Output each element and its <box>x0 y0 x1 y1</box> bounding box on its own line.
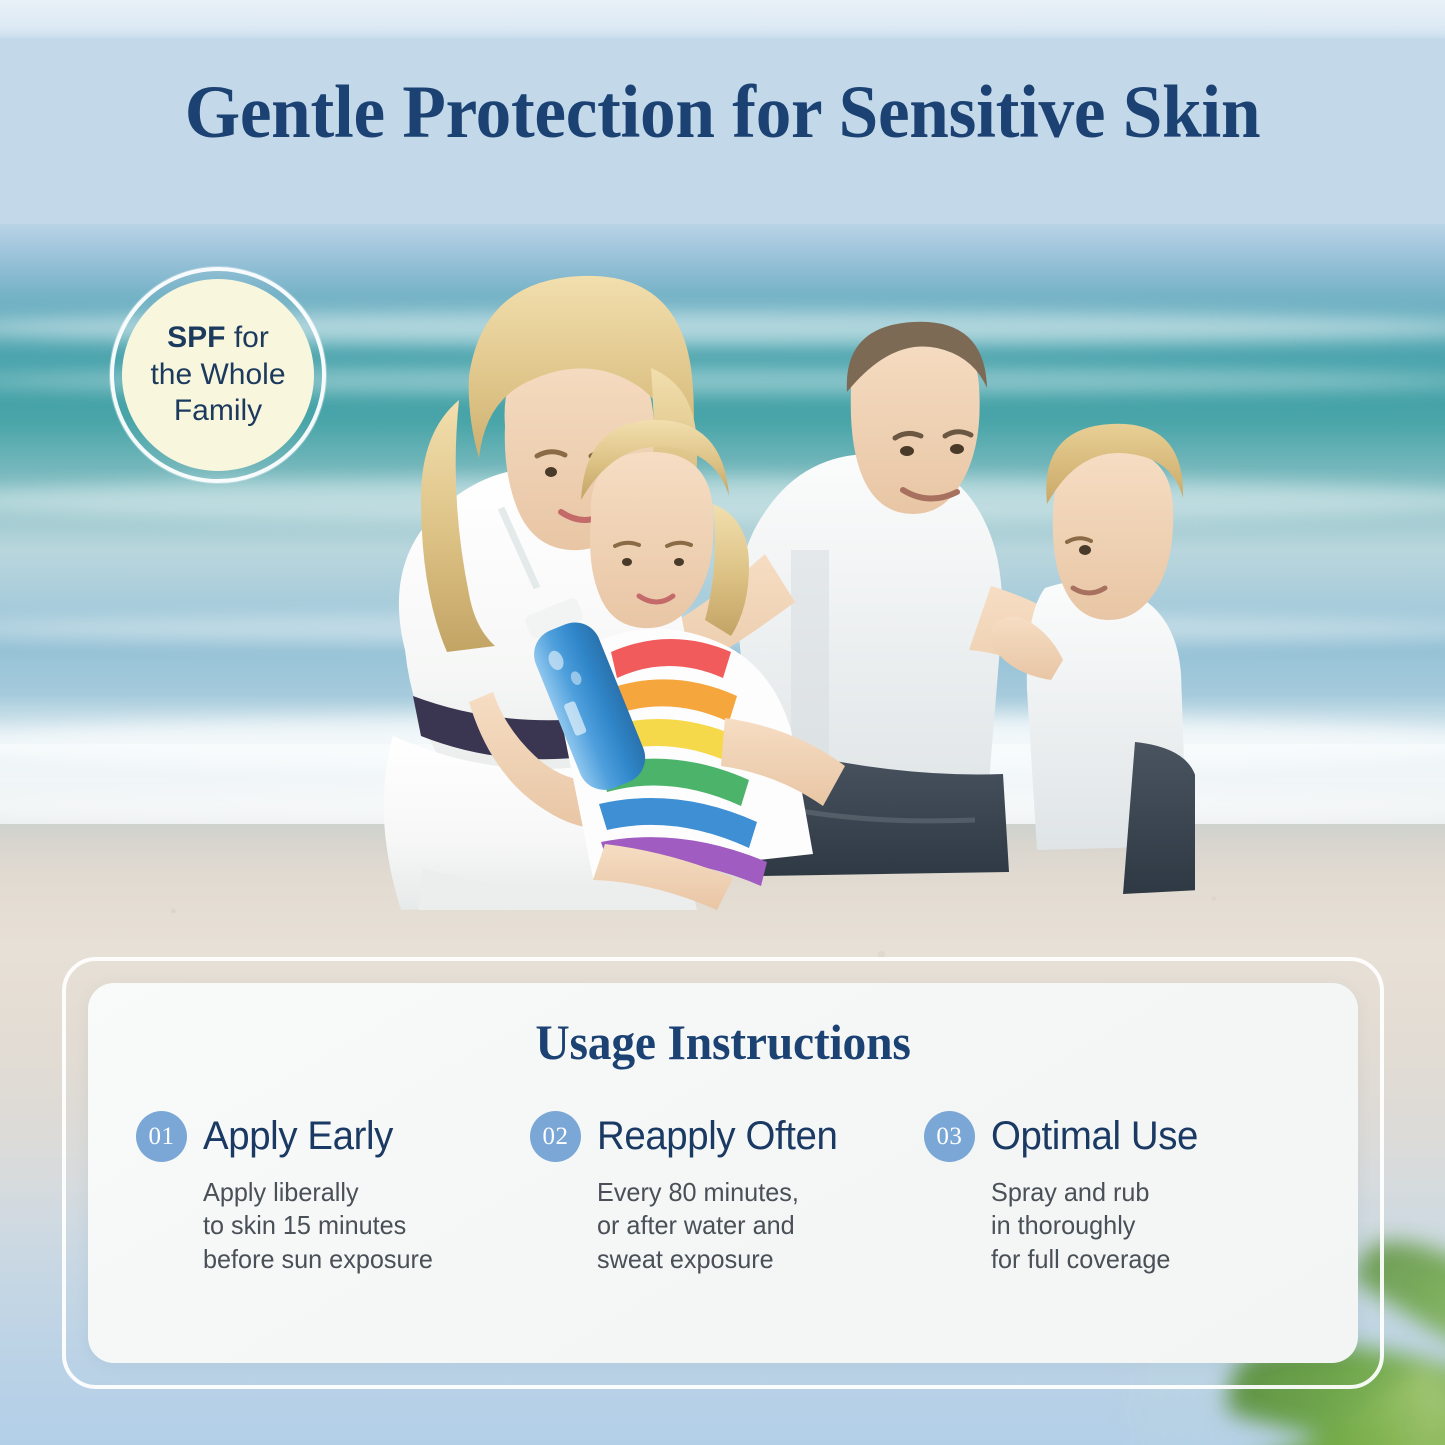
step-title: Apply Early <box>203 1114 393 1159</box>
step-number-badge: 01 <box>136 1111 187 1162</box>
step-number-badge: 03 <box>924 1111 975 1162</box>
usage-step-header: 01 Apply Early <box>136 1111 530 1162</box>
usage-instructions-heading: Usage Instructions <box>120 1013 1327 1071</box>
poster-root: Gentle Protection for Sensitive Skin SPF… <box>0 0 1445 1445</box>
step-description: Apply liberally to skin 15 minutes befor… <box>203 1176 520 1276</box>
step-description: Every 80 minutes, or after water and swe… <box>597 1176 914 1276</box>
usage-step: 01 Apply Early Apply liberally to skin 1… <box>136 1111 530 1276</box>
page-title: Gentle Protection for Sensitive Skin <box>36 73 1409 153</box>
spf-badge-label: SPF <box>167 321 225 354</box>
spf-badge-line-3: Family <box>174 393 262 430</box>
son-figure <box>989 424 1195 894</box>
family-photo-illustration <box>255 250 1195 910</box>
usage-step-header: 02 Reapply Often <box>530 1111 924 1162</box>
step-title: Optimal Use <box>991 1114 1198 1159</box>
step-number-badge: 02 <box>530 1111 581 1162</box>
usage-step: 03 Optimal Use Spray and rub in thorough… <box>924 1111 1318 1276</box>
usage-step-header: 03 Optimal Use <box>924 1111 1318 1162</box>
family-beach-photo <box>255 250 1195 910</box>
spf-badge-line-1: SPF for <box>167 320 269 357</box>
step-title: Reapply Often <box>597 1114 837 1159</box>
usage-step: 02 Reapply Often Every 80 minutes, or af… <box>530 1111 924 1276</box>
usage-instructions-card: Usage Instructions 01 Apply Early Apply … <box>88 983 1358 1363</box>
step-description: Spray and rub in thoroughly for full cov… <box>991 1176 1308 1276</box>
usage-steps-list: 01 Apply Early Apply liberally to skin 1… <box>88 1111 1358 1276</box>
